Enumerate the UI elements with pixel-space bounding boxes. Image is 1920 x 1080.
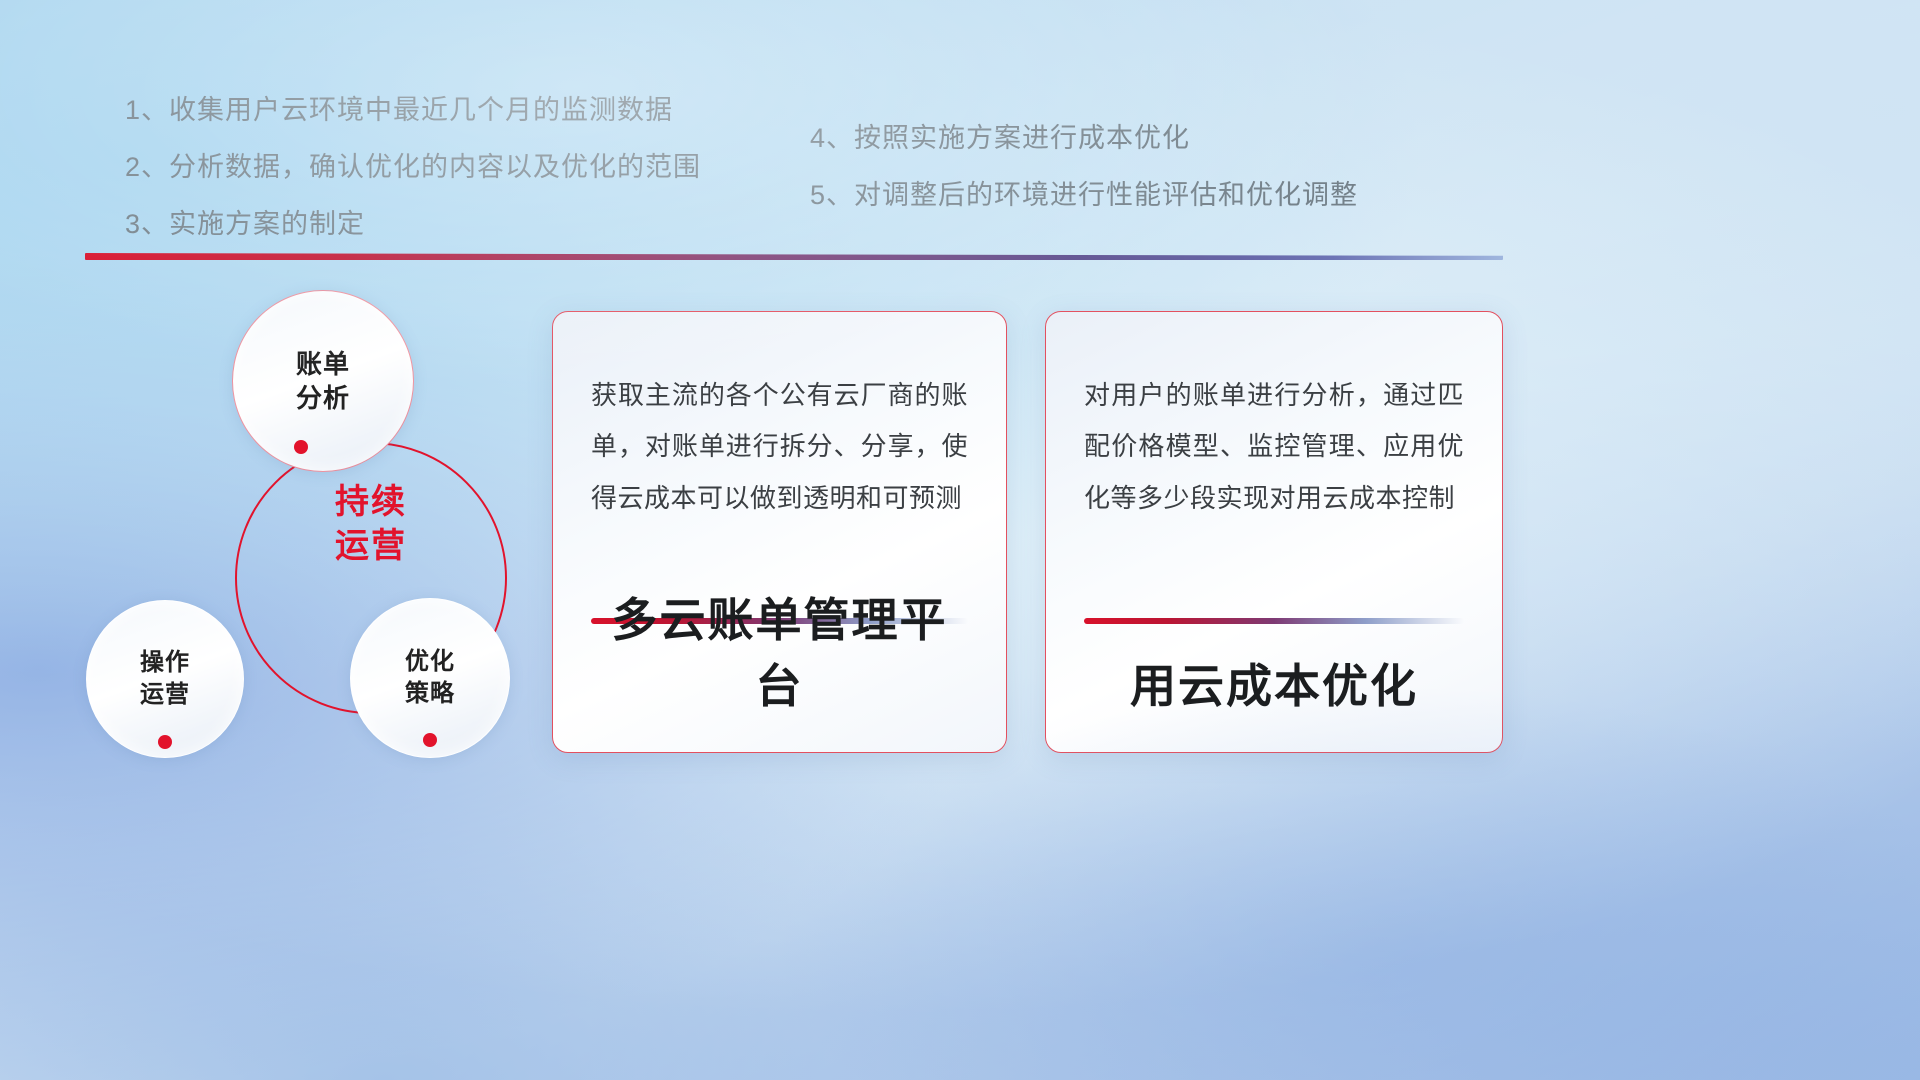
steps-right-column: 4、按照实施方案进行成本优化 5、对调整后的环境进行性能评估和优化调整 <box>810 125 1358 239</box>
bubble-optimization-strategy-label: 优化 策略 <box>405 646 455 709</box>
bubble-line1: 操作 <box>140 647 190 679</box>
step-item-2: 2、分析数据，确认优化的内容以及优化的范围 <box>125 154 701 181</box>
card-title: 用云成本优化 <box>1084 650 1464 716</box>
center-label-line2: 运营 <box>235 524 507 568</box>
bubble-line1: 账单 <box>296 347 350 381</box>
bubble-line1: 优化 <box>405 646 455 678</box>
center-label-line1: 持续 <box>235 480 507 524</box>
step-item-1: 1、收集用户云环境中最近几个月的监测数据 <box>125 97 701 124</box>
red-gradient-divider <box>85 253 1503 260</box>
bubble-operations-label: 操作 运营 <box>140 647 190 710</box>
bubble-bill-analysis[interactable]: 账单 分析 <box>232 290 414 472</box>
step-item-3: 3、实施方案的制定 <box>125 211 701 238</box>
steps-left-column: 1、收集用户云环境中最近几个月的监测数据 2、分析数据，确认优化的内容以及优化的… <box>125 97 701 268</box>
continuous-operations-diagram: 持续 运营 账单 分析 操作 运营 优化 策略 <box>80 290 540 770</box>
card-cloud-cost-optimization[interactable]: 对用户的账单进行分析，通过匹配价格模型、监控管理、应用优化等多少段实现对用云成本… <box>1045 311 1503 753</box>
diagram-center-label: 持续 运营 <box>235 480 507 568</box>
card-multicloud-billing-platform[interactable]: 获取主流的各个公有云厂商的账单，对账单进行拆分、分享，使得云成本可以做到透明和可… <box>552 311 1007 753</box>
card-title: 多云账单管理平台 <box>591 584 968 716</box>
step-item-5: 5、对调整后的环境进行性能评估和优化调整 <box>810 182 1358 209</box>
node-dot-top <box>294 440 308 454</box>
bubble-line2: 策略 <box>405 678 455 710</box>
card-body-text: 获取主流的各个公有云厂商的账单，对账单进行拆分、分享，使得云成本可以做到透明和可… <box>591 370 968 524</box>
card-accent-rule <box>1084 618 1464 624</box>
bubble-line2: 运营 <box>140 679 190 711</box>
node-dot-bottom-left <box>158 735 172 749</box>
slide-canvas: 1、收集用户云环境中最近几个月的监测数据 2、分析数据，确认优化的内容以及优化的… <box>0 0 1920 1080</box>
card-body-text: 对用户的账单进行分析，通过匹配价格模型、监控管理、应用优化等多少段实现对用云成本… <box>1084 370 1464 524</box>
bubble-line2: 分析 <box>296 381 350 415</box>
node-dot-bottom-right <box>423 733 437 747</box>
step-item-4: 4、按照实施方案进行成本优化 <box>810 125 1358 152</box>
bubble-bill-analysis-label: 账单 分析 <box>296 347 350 416</box>
